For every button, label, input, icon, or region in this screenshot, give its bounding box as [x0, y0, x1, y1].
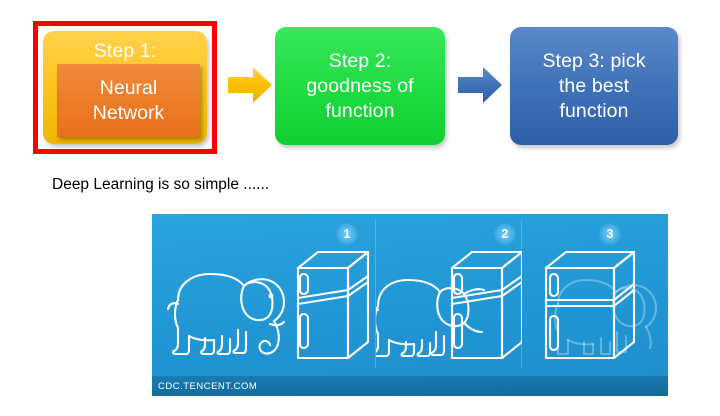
panel-number-3: 3	[599, 223, 621, 245]
step-3-line-3: function	[542, 99, 645, 124]
steps-row: Step 1: Neural Network Step 2: goodness …	[0, 0, 720, 175]
panel-number-1: 1	[336, 223, 358, 245]
step-2-line-1: Step 2:	[306, 49, 413, 74]
arrow-2-icon	[458, 66, 502, 104]
step-1-overlay-line-2: Network	[93, 101, 165, 126]
watermark-text: CDC.TENCENT.COM	[152, 381, 257, 392]
caption-text: Deep Learning is so simple ......	[52, 176, 269, 194]
step-1-overlay-line-1: Neural	[100, 76, 157, 101]
arrow-1-icon	[228, 66, 272, 104]
slide-canvas: Step 1: Neural Network Step 2: goodness …	[0, 0, 720, 416]
step-3-line-2: the best	[542, 74, 645, 99]
step-2-line-2: goodness of	[306, 74, 413, 99]
panel-number-2: 2	[494, 223, 516, 245]
step-1-overlay-box[interactable]: Neural Network	[57, 64, 200, 137]
panel-1-artwork	[152, 232, 376, 372]
step-3-line-1: Step 3: pick	[542, 49, 645, 74]
step-2-line-3: function	[306, 99, 413, 124]
illustration-panel: 1 2 3 CDC.TENCENT.COM	[152, 214, 668, 396]
step-3-box[interactable]: Step 3: pick the best function	[510, 27, 678, 145]
panel-3-artwork	[522, 232, 668, 372]
watermark-bar: CDC.TENCENT.COM	[152, 376, 668, 396]
step-2-box[interactable]: Step 2: goodness of function	[275, 27, 445, 145]
step-1-title: Step 1:	[94, 39, 157, 64]
panel-2-artwork	[376, 232, 522, 372]
